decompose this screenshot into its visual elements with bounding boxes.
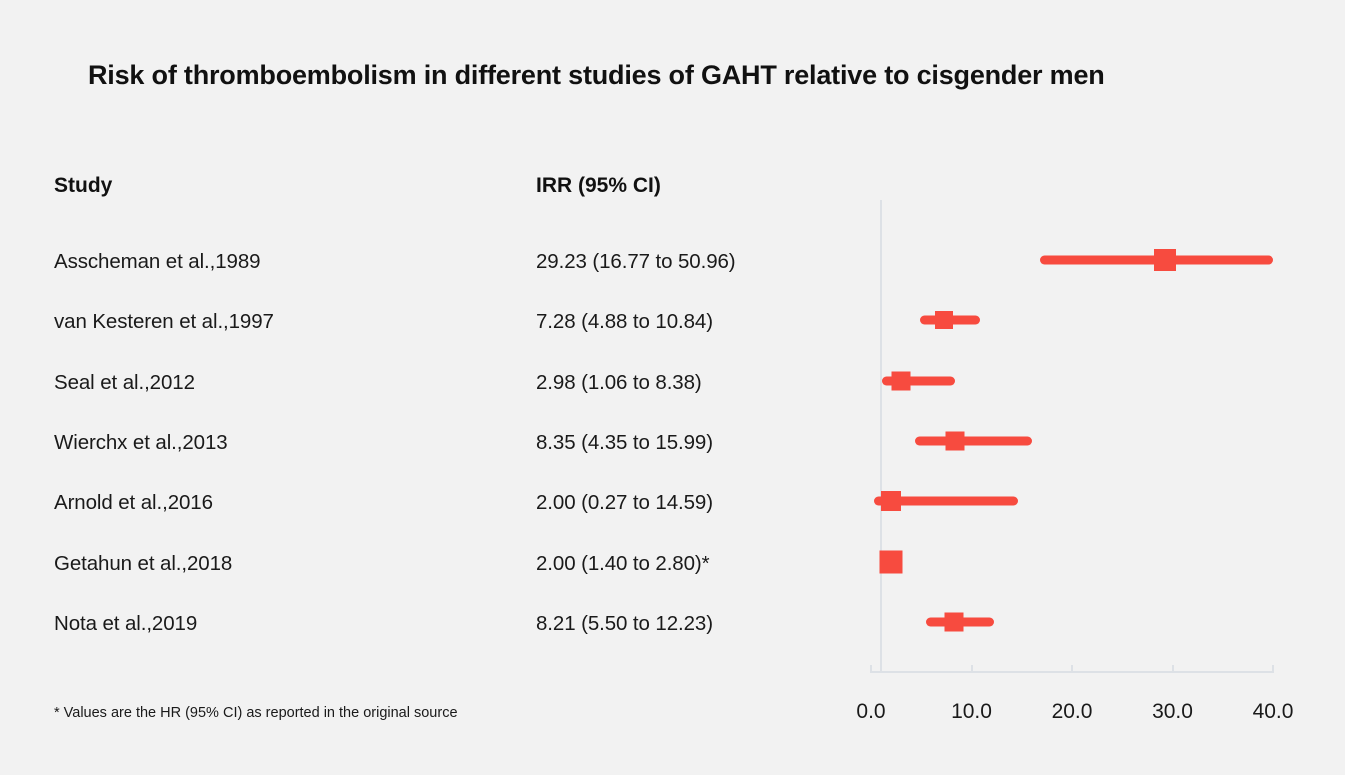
point-estimate-marker [935,311,953,329]
x-axis-tick [1071,665,1073,673]
point-estimate-marker [944,613,963,632]
confidence-interval-bar [915,437,1032,446]
null-reference-line [880,200,882,672]
point-estimate-marker [945,432,964,451]
x-axis-tick [1172,665,1174,673]
x-axis-tick [971,665,973,673]
x-axis-tick-label: 0.0 [856,700,885,724]
point-estimate-marker [881,491,901,511]
x-axis-tick [870,665,872,673]
x-axis-tick-label: 40.0 [1253,700,1294,724]
x-axis-tick-label: 20.0 [1052,700,1093,724]
x-axis-tick-label: 30.0 [1152,700,1193,724]
x-axis-tick [1272,665,1274,673]
point-estimate-marker [880,551,903,574]
forest-plot-panel: 0.010.020.030.040.0 [0,0,1345,775]
point-estimate-marker [891,372,910,391]
x-axis-tick-label: 10.0 [951,700,992,724]
point-estimate-marker [1154,249,1176,271]
forest-plot-figure: Risk of thromboembolism in different stu… [0,0,1345,775]
